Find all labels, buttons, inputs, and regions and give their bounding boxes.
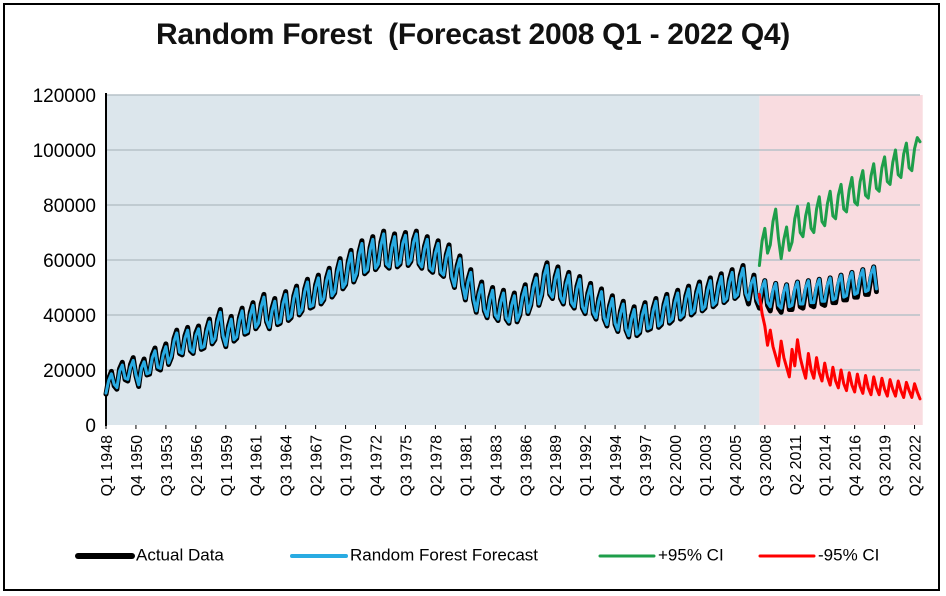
x-axis-tick-label: Q4 1983 bbox=[488, 435, 505, 496]
x-axis-tick-label: Q4 1972 bbox=[369, 435, 386, 496]
x-axis-tick-label: Q4 2016 bbox=[848, 435, 865, 496]
x-axis-tick-label: Q1 1948 bbox=[99, 435, 116, 496]
x-axis-tick-label: Q4 2005 bbox=[728, 435, 745, 496]
x-axis-tick-label: Q3 2008 bbox=[758, 435, 775, 496]
x-axis-tick-label: Q2 1956 bbox=[189, 435, 206, 496]
x-axis-tick-label: Q3 1953 bbox=[159, 435, 176, 496]
chart-canvas: Random Forest (Forecast 2008 Q1 - 2022 Q… bbox=[0, 0, 946, 596]
x-axis-tick-label: Q4 1961 bbox=[249, 435, 266, 496]
x-axis-tick-label: Q2 1989 bbox=[548, 435, 565, 496]
x-axis-tick-label: Q1 2003 bbox=[698, 435, 715, 496]
chart-svg: 120000100000800006000040000200000Q1 1948… bbox=[0, 0, 946, 596]
legend-label-4: -95% CI bbox=[818, 545, 879, 564]
x-axis-tick-label: Q3 1975 bbox=[398, 435, 415, 496]
y-axis-tick-label: 0 bbox=[85, 416, 96, 437]
legend-label-3: +95% CI bbox=[658, 545, 724, 564]
x-axis-tick-label: Q3 1986 bbox=[518, 435, 535, 496]
x-axis-tick-label: Q1 1959 bbox=[219, 435, 236, 496]
y-axis-tick-label: 120000 bbox=[33, 86, 96, 107]
x-axis-tick-label: Q3 1964 bbox=[279, 435, 296, 496]
x-axis-tick-label: Q4 1994 bbox=[608, 435, 625, 496]
y-axis-tick-label: 100000 bbox=[33, 141, 96, 162]
x-axis-tick-label: Q1 1970 bbox=[339, 435, 356, 496]
y-axis-tick-label: 80000 bbox=[43, 196, 96, 217]
x-axis-tick-label: Q1 2014 bbox=[818, 435, 835, 496]
x-axis-tick-label: Q3 2019 bbox=[878, 435, 895, 496]
y-axis-tick-label: 40000 bbox=[43, 306, 96, 327]
chart-title: Random Forest (Forecast 2008 Q1 - 2022 Q… bbox=[0, 18, 946, 52]
x-axis-tick-label: Q2 1978 bbox=[428, 435, 445, 496]
x-axis-tick-label: Q2 1967 bbox=[309, 435, 326, 496]
y-axis-tick-label: 60000 bbox=[43, 251, 96, 272]
x-axis-tick-label: Q1 1992 bbox=[578, 435, 595, 496]
legend-label-2: Random Forest Forecast bbox=[350, 545, 538, 564]
x-axis-tick-label: Q1 1981 bbox=[458, 435, 475, 496]
x-axis-tick-label: Q2 2011 bbox=[788, 435, 805, 495]
x-axis-tick-label: Q4 1950 bbox=[129, 435, 146, 496]
x-axis-tick-label: Q2 2000 bbox=[668, 435, 685, 496]
legend-label-1: Actual Data bbox=[136, 545, 224, 564]
y-axis-tick-label: 20000 bbox=[43, 361, 96, 382]
x-axis-tick-label: Q2 2022 bbox=[908, 435, 925, 496]
x-axis-tick-label: Q3 1997 bbox=[638, 435, 655, 496]
